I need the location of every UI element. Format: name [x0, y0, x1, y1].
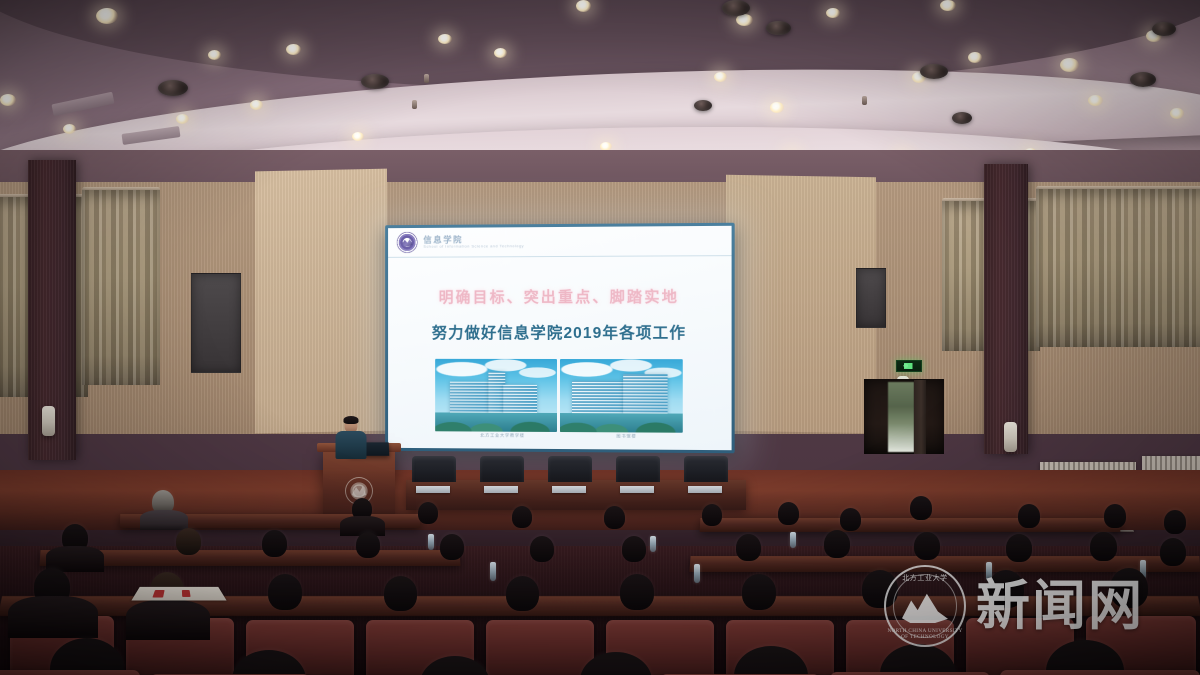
projection-screen: 信息学院 School of Information Science and T…	[385, 223, 734, 454]
wall-column-right	[984, 164, 1028, 454]
audience-head	[268, 574, 302, 610]
slide-header-text: 信息学院 School of Information Science and T…	[423, 235, 524, 249]
audience-head	[1160, 538, 1186, 566]
audience-head	[1090, 532, 1117, 561]
auditorium-seat-foreground	[0, 670, 140, 675]
downlight-icon	[176, 114, 189, 124]
ceiling-air-vent	[51, 92, 114, 117]
handout-document	[131, 587, 226, 601]
auditorium-photo: 信息学院 School of Information Science and T…	[0, 0, 1200, 675]
audience-head	[742, 574, 776, 610]
photo-caption-right: 图书馆楼	[616, 433, 636, 439]
audience-head	[356, 532, 380, 558]
ceiling-speaker-icon	[361, 74, 389, 89]
auditorium-seat-foreground	[1000, 670, 1200, 675]
campus-photo-right	[559, 359, 682, 433]
sprinkler-icon	[862, 96, 867, 105]
ceiling-speaker-icon	[952, 112, 972, 124]
audience-head	[1164, 510, 1186, 534]
water-bottle	[790, 532, 796, 548]
downlight-icon	[1170, 108, 1184, 119]
slide-photo-captions: 北方工业大学教学楼 图书馆楼	[435, 432, 683, 440]
auditorium-seat	[486, 620, 594, 675]
downlight-icon	[826, 8, 840, 18]
exit-sign	[896, 360, 922, 372]
audience-head	[262, 530, 287, 557]
photo-caption-left: 北方工业大学教学楼	[480, 433, 525, 439]
presentation-slide: 信息学院 School of Information Science and T…	[388, 226, 732, 450]
downlight-icon	[714, 72, 727, 82]
landscape-greenery	[435, 412, 556, 432]
sprinkler-icon	[412, 100, 417, 109]
downlight-icon	[63, 124, 76, 134]
acoustic-panel-left	[191, 273, 241, 373]
audience-shoulders	[126, 600, 210, 640]
audience-head	[620, 574, 654, 610]
audience-head	[1104, 504, 1126, 528]
audience-head	[736, 534, 761, 561]
door-opening-daylight	[888, 382, 914, 452]
audience-head	[824, 530, 850, 558]
downlight-icon	[494, 48, 507, 58]
document-red-mark	[182, 590, 191, 597]
university-crest-icon	[397, 232, 418, 253]
downlight-icon	[438, 34, 452, 44]
water-bottle	[650, 536, 656, 552]
downlight-icon	[0, 94, 16, 106]
running-man-exit-icon	[901, 363, 918, 369]
desk-row	[700, 518, 1121, 532]
campus-photo-left	[435, 359, 556, 432]
audience-head	[910, 496, 932, 520]
presenter-torso	[336, 431, 367, 459]
downlight-icon	[96, 8, 118, 24]
downlight-icon	[286, 44, 301, 55]
audience-head	[778, 502, 799, 525]
audience-head	[512, 506, 532, 528]
audience-head	[418, 502, 438, 524]
ceiling-speaker-icon	[920, 64, 948, 79]
audience-head	[622, 536, 646, 562]
audience-shoulders	[140, 510, 188, 530]
audience-shoulders	[8, 596, 98, 638]
downlight-icon	[968, 52, 982, 63]
ceiling-speaker-icon	[766, 21, 791, 35]
downlight-icon	[770, 102, 784, 113]
wall-panel-beige-right	[726, 175, 876, 434]
wall-speaker-icon	[1004, 422, 1017, 452]
audience-head	[440, 534, 464, 560]
audience-head	[914, 532, 940, 560]
acoustic-panel-right	[856, 268, 886, 328]
downlight-icon	[250, 100, 263, 110]
ceiling-speaker-icon	[158, 80, 188, 96]
door-leaf[interactable]	[914, 380, 926, 454]
audience-head	[604, 506, 625, 529]
downlight-icon	[576, 0, 591, 12]
audience-head	[862, 570, 898, 608]
slide-header: 信息学院 School of Information Science and T…	[388, 226, 732, 258]
downlight-icon	[208, 50, 221, 60]
audience-head	[530, 536, 554, 562]
audience-area	[0, 470, 1200, 675]
wall-panel-beige-left	[255, 169, 387, 434]
slide-headline-1: 明确目标、突出重点、脚踏实地	[388, 285, 732, 307]
curtain-right-far	[1036, 189, 1200, 347]
audience-head	[840, 508, 861, 531]
water-bottle	[428, 534, 434, 550]
sprinkler-icon	[424, 74, 429, 83]
audience-head	[384, 576, 417, 611]
water-bottle	[694, 564, 700, 583]
presenter-person	[334, 418, 368, 458]
audience-head	[1006, 534, 1032, 562]
wall-speaker-icon	[42, 406, 55, 436]
ceiling-speaker-icon	[722, 0, 750, 16]
ceiling-speaker-icon	[694, 100, 712, 111]
slide-headline-2: 努力做好信息学院2019年各项工作	[388, 321, 732, 343]
water-bottle	[490, 562, 496, 581]
landscape-greenery	[559, 413, 682, 433]
ceiling-speaker-icon	[1130, 72, 1156, 87]
audience-head	[176, 528, 201, 555]
slide-school-name-en: School of Information Science and Techno…	[423, 244, 524, 249]
downlight-icon	[1088, 95, 1103, 106]
downlight-icon	[1060, 58, 1079, 72]
audience-head	[506, 576, 539, 611]
document-red-mark	[152, 590, 164, 598]
curtain-left	[82, 190, 160, 385]
audience-head	[988, 570, 1024, 608]
ceiling-speaker-icon	[1152, 22, 1176, 36]
audience-head	[702, 504, 722, 526]
audience-head	[1018, 504, 1040, 528]
downlight-icon	[940, 0, 956, 11]
audience-head	[1110, 568, 1148, 608]
slide-photo-row	[435, 359, 683, 433]
downlight-icon	[352, 132, 364, 141]
